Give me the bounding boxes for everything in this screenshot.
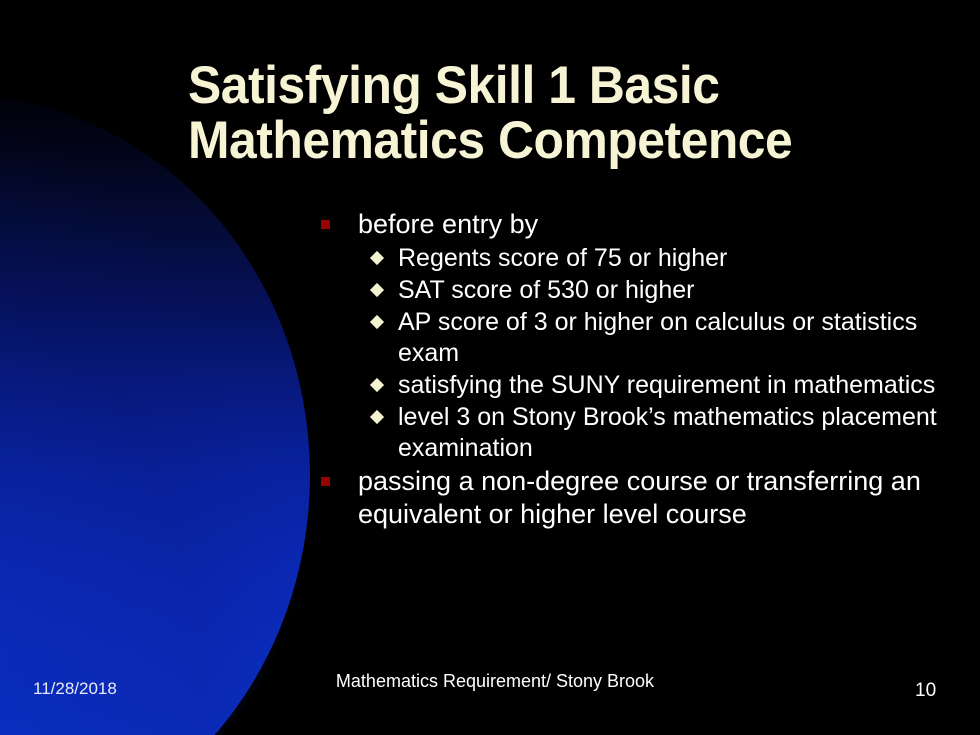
presentation-slide: Satisfying Skill 1 Basic Mathematics Com… bbox=[0, 0, 980, 735]
bullet-item-level2: Regents score of 75 or higher bbox=[312, 243, 952, 274]
diamond-bullet-icon bbox=[370, 315, 384, 329]
footer-date: 11/28/2018 bbox=[33, 679, 117, 699]
slide-body-bullet-list: before entry by Regents score of 75 or h… bbox=[312, 208, 952, 533]
bullet-text: passing a non-degree course or transferr… bbox=[358, 466, 921, 529]
bullet-item-level2: satisfying the SUNY requirement in mathe… bbox=[312, 370, 952, 401]
diamond-bullet-icon bbox=[370, 283, 384, 297]
square-bullet-icon bbox=[321, 220, 330, 229]
bullet-item-level1: before entry by bbox=[312, 208, 952, 241]
bullet-text: Regents score of 75 or higher bbox=[398, 244, 727, 272]
diamond-bullet-icon bbox=[370, 410, 384, 424]
diamond-bullet-icon bbox=[370, 378, 384, 392]
decorative-blue-ellipse-glow bbox=[0, 85, 316, 735]
square-bullet-icon bbox=[321, 477, 330, 486]
bullet-item-level2: SAT score of 530 or higher bbox=[312, 275, 952, 306]
bullet-item-level1: passing a non-degree course or transferr… bbox=[312, 465, 952, 531]
bullet-text: before entry by bbox=[358, 209, 538, 239]
decorative-blue-ellipse bbox=[0, 95, 310, 735]
bullet-text: satisfying the SUNY requirement in mathe… bbox=[398, 371, 935, 399]
slide-title: Satisfying Skill 1 Basic Mathematics Com… bbox=[188, 58, 846, 168]
bullet-text: SAT score of 530 or higher bbox=[398, 276, 694, 304]
footer-page-number: 10 bbox=[915, 680, 936, 702]
bullet-item-level2: AP score of 3 or higher on calculus or s… bbox=[312, 307, 952, 369]
bullet-item-level2: level 3 on Stony Brook’s mathematics pla… bbox=[312, 402, 952, 464]
diamond-bullet-icon bbox=[370, 251, 384, 265]
bullet-text: AP score of 3 or higher on calculus or s… bbox=[398, 308, 917, 367]
bullet-text: level 3 on Stony Brook’s mathematics pla… bbox=[398, 403, 937, 462]
footer-title: Mathematics Requirement/ Stony Brook bbox=[330, 670, 660, 693]
